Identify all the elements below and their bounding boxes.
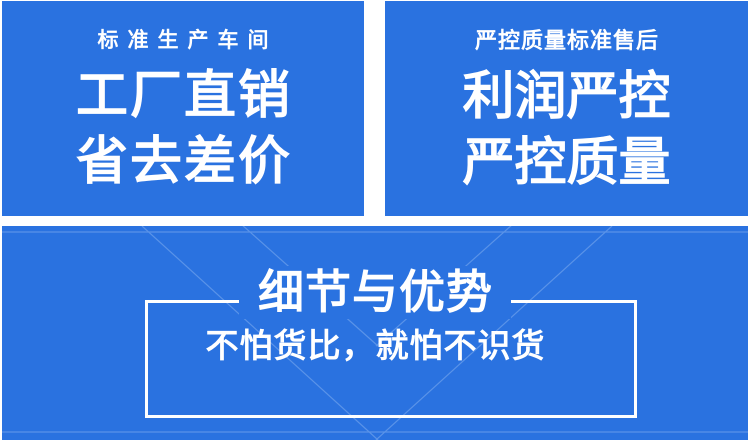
details-title-row: 细节与优势 <box>2 266 748 319</box>
quality-headline-line1: 利润严控 <box>462 71 670 123</box>
panel-details-and-advantages: 细节与优势 不怕货比，就怕不识货 <box>2 226 748 440</box>
quality-headline-line2: 严控质量 <box>462 137 670 189</box>
factory-headline-line2: 省去差价 <box>74 136 292 188</box>
promo-banner: 标准生产车间 工厂直销 省去差价 严控质量标准售后 利润严控 严控质量 <box>0 0 750 440</box>
details-subtitle-row: 不怕货比，就怕不识货 <box>2 326 748 366</box>
panel-quality-control: 严控质量标准售后 利润严控 严控质量 <box>385 1 748 216</box>
details-subtitle-text: 不怕货比，就怕不识货 <box>205 326 546 366</box>
panel-factory-content: 标准生产车间 工厂直销 省去差价 <box>2 1 364 216</box>
factory-kicker-text: 标准生产车间 <box>89 30 278 51</box>
details-title-text: 细节与优势 <box>239 266 511 319</box>
factory-headline-line1: 工厂直销 <box>74 70 292 122</box>
quality-kicker-text: 严控质量标准售后 <box>474 30 659 52</box>
panel-factory-direct-sales: 标准生产车间 工厂直销 省去差价 <box>2 1 364 216</box>
panel-details-content: 细节与优势 不怕货比，就怕不识货 <box>2 226 748 440</box>
panel-quality-content: 严控质量标准售后 利润严控 严控质量 <box>385 1 748 216</box>
